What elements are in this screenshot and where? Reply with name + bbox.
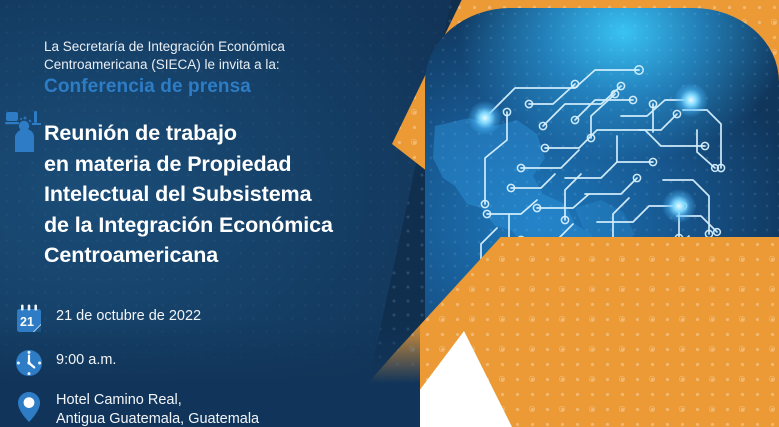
kicker-line-2: Centroamericana (SIECA) le invita a la: <box>44 57 280 72</box>
glow-node-3 <box>662 189 696 223</box>
detail-location-text: Hotel Camino Real, Antigua Guatemala, Gu… <box>56 391 259 427</box>
glow-node-1 <box>468 101 502 135</box>
intellectual-property-icon <box>2 106 46 152</box>
detail-row-location: Hotel Camino Real, Antigua Guatemala, Gu… <box>12 390 412 427</box>
location-pin-icon <box>12 390 46 424</box>
kicker-line-1: La Secretaría de Integración Económica <box>44 39 285 54</box>
title-line-3: Intelectual del Subsistema <box>44 179 394 210</box>
clock-icon <box>12 346 46 380</box>
title-line-4: de la Integración Económica <box>44 210 394 241</box>
event-details: 21 21 de octubre de 2022 9:00 a.m. <box>12 302 412 427</box>
kicker-accent-conferencia: Conferencia de prensa <box>44 75 384 99</box>
poster-content: La Secretaría de Integración Económica C… <box>0 0 430 427</box>
detail-row-time: 9:00 a.m. <box>12 346 412 384</box>
title-line-1: Reunión de trabajo <box>44 118 394 149</box>
press-conference-poster: La Secretaría de Integración Económica C… <box>0 0 779 427</box>
page-title: Reunión de trabajo en materia de Propied… <box>44 118 394 271</box>
title-line-5: Centroamericana <box>44 240 394 271</box>
title-line-2: en materia de Propiedad <box>44 149 394 180</box>
kicker-text: La Secretaría de Integración Económica C… <box>44 38 384 99</box>
calendar-icon: 21 <box>12 302 46 336</box>
glow-node-2 <box>674 83 708 117</box>
detail-date-text: 21 de octubre de 2022 <box>56 307 201 326</box>
detail-time-text: 9:00 a.m. <box>56 351 116 370</box>
detail-row-date: 21 21 de octubre de 2022 <box>12 302 412 340</box>
calendar-day-number: 21 <box>20 315 34 329</box>
